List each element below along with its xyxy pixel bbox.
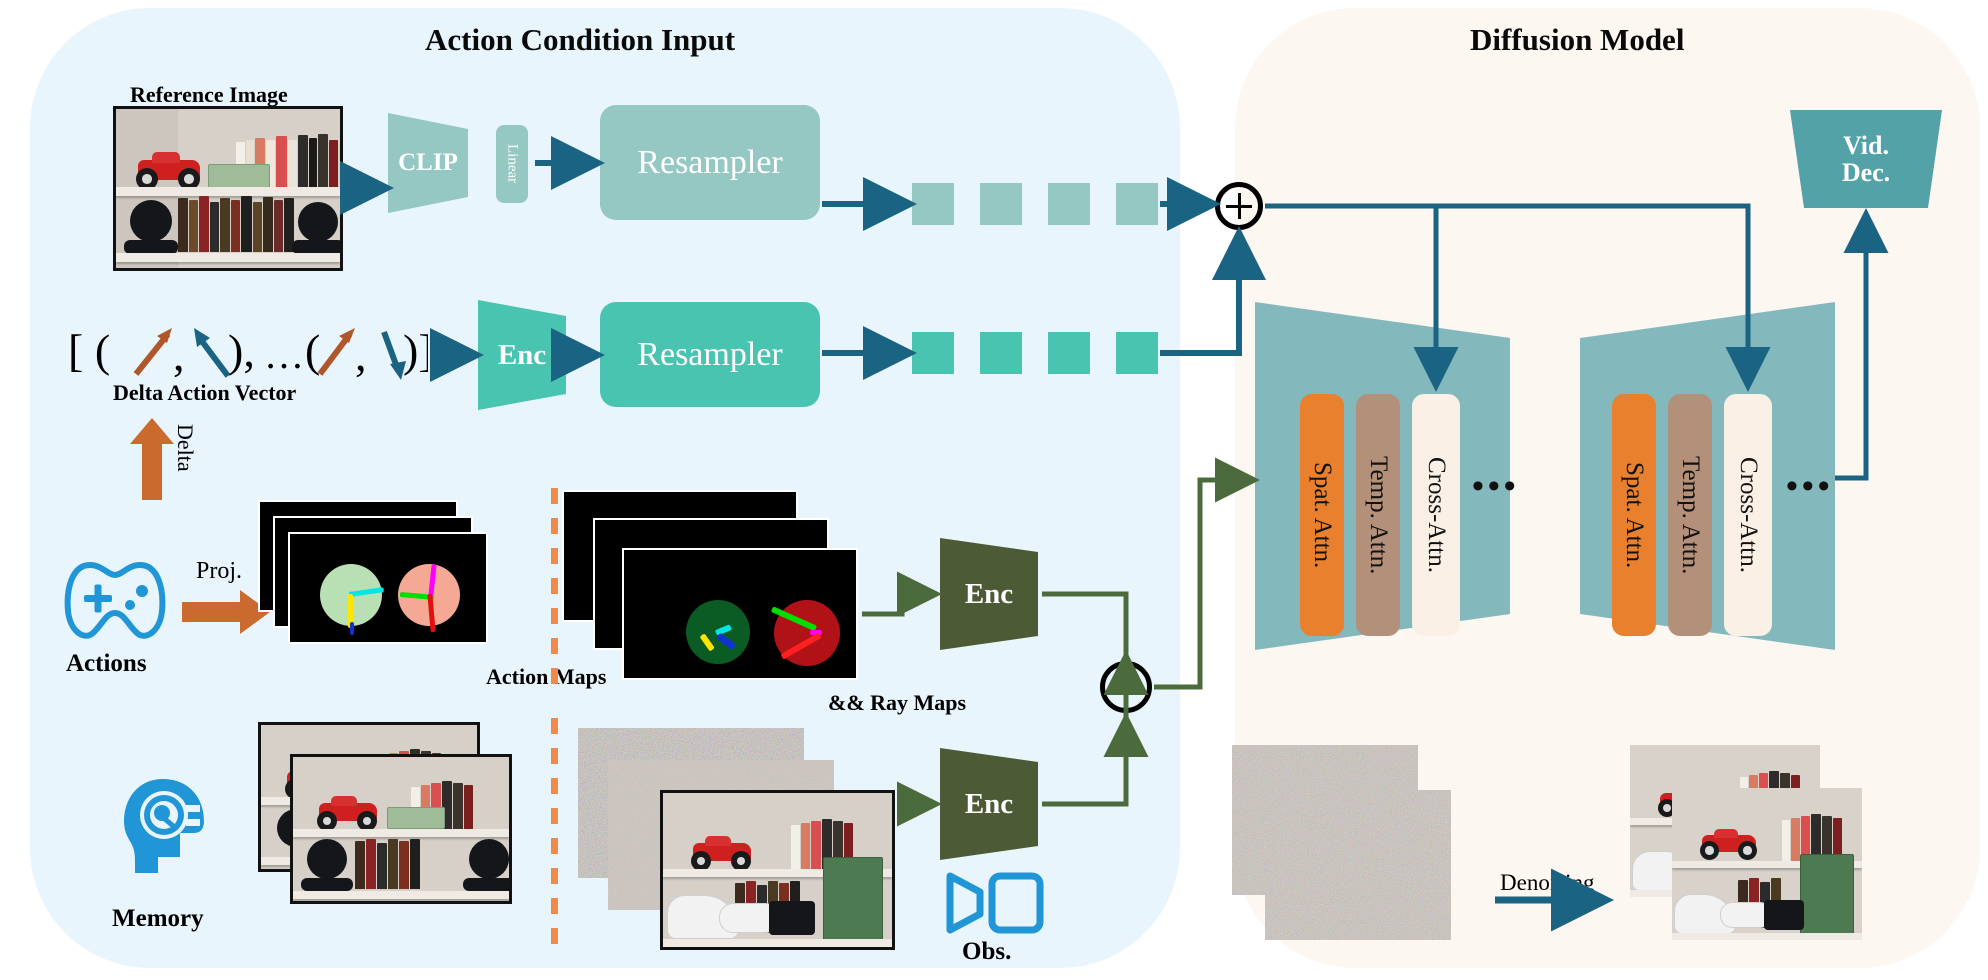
diagram-canvas: Action Condition Input Diffusion Model R… bbox=[0, 0, 1988, 980]
proj-label: Proj. bbox=[196, 558, 242, 585]
proj-arrow bbox=[182, 590, 270, 639]
denoise-input-noisy-front bbox=[1265, 790, 1451, 940]
enc-raymap-block: Enc bbox=[940, 538, 1038, 650]
unet-down-temporal-attn: Temp. Attn. bbox=[1356, 394, 1400, 636]
denoise-output-front bbox=[1672, 788, 1862, 940]
unet-down-temporal-attn-label: Temp. Attn. bbox=[1364, 456, 1392, 574]
unet-up-spatial-attn-label: Spat. Attn. bbox=[1620, 462, 1648, 568]
svg-text:…: … bbox=[264, 332, 304, 377]
reference-image-label: Reference Image bbox=[130, 82, 288, 108]
unet-down-spatial-attn: Spat. Attn. bbox=[1300, 394, 1344, 636]
reference-image-photo bbox=[113, 106, 343, 271]
svg-text:),: ), bbox=[228, 325, 255, 376]
enc-obs-block: Enc bbox=[940, 748, 1038, 860]
unet-down-cross-attn-label: Cross-Attn. bbox=[1422, 457, 1450, 573]
enc-action-block: Enc bbox=[478, 300, 566, 410]
delta-arrow bbox=[130, 418, 174, 505]
delta-action-vector-label: Delta Action Vector bbox=[113, 380, 296, 406]
unet-down-cross-attn: Cross-Attn. bbox=[1412, 394, 1460, 636]
obs-photo-front bbox=[660, 790, 895, 950]
linear-block: Linear bbox=[496, 125, 528, 203]
add-operator-bottom bbox=[1100, 661, 1152, 713]
obs-label: Obs. bbox=[962, 938, 1011, 966]
svg-text:)]: )] bbox=[403, 325, 428, 376]
ray-maps-label: && Ray Maps bbox=[828, 690, 966, 716]
dashed-separator-top bbox=[551, 488, 558, 688]
token-square-top-2 bbox=[980, 183, 1022, 225]
actions-label: Actions bbox=[66, 650, 147, 678]
video-decoder-label-line2: Dec. bbox=[1842, 159, 1890, 186]
camera-icon bbox=[942, 870, 1046, 941]
token-square-top-4 bbox=[1116, 183, 1158, 225]
svg-text:,: , bbox=[355, 329, 367, 380]
denoising-label: Denoising bbox=[1500, 870, 1595, 896]
ray-map-frame-front bbox=[622, 548, 858, 680]
panel-title-action-condition-input: Action Condition Input bbox=[425, 22, 735, 58]
unet-down-ellipsis: ••• bbox=[1472, 468, 1520, 506]
gamepad-icon bbox=[60, 555, 170, 650]
action-map-stick-blue bbox=[350, 622, 354, 635]
resampler-mid-block: Resampler bbox=[600, 302, 820, 407]
unet-up-temporal-attn: Temp. Attn. bbox=[1668, 394, 1712, 636]
resampler-mid-label: Resampler bbox=[637, 336, 782, 374]
token-square-mid-3 bbox=[1048, 332, 1090, 374]
clip-block-label: CLIP bbox=[398, 149, 458, 177]
delta-label: Delta bbox=[172, 424, 198, 472]
unet-up-ellipsis: ••• bbox=[1786, 468, 1834, 506]
svg-text:(: ( bbox=[305, 325, 320, 376]
video-decoder-block: Vid. Dec. bbox=[1790, 110, 1942, 208]
token-square-mid-4 bbox=[1116, 332, 1158, 374]
enc-obs-label: Enc bbox=[965, 788, 1013, 821]
linear-block-label: Linear bbox=[504, 144, 521, 183]
unet-up-temporal-attn-label: Temp. Attn. bbox=[1676, 456, 1704, 574]
resampler-top-label: Resampler bbox=[637, 144, 782, 182]
token-square-mid-1 bbox=[912, 332, 954, 374]
clip-block: CLIP bbox=[388, 113, 468, 213]
svg-text:[ (: [ ( bbox=[68, 325, 110, 376]
add-operator-top bbox=[1215, 182, 1263, 230]
memory-label: Memory bbox=[112, 905, 204, 933]
unet-up-spatial-attn: Spat. Attn. bbox=[1612, 394, 1656, 636]
dashed-separator-bottom bbox=[551, 718, 558, 948]
token-square-top-1 bbox=[912, 183, 954, 225]
enc-raymap-label: Enc bbox=[965, 578, 1013, 611]
delta-action-vector-expression: [ ( , ), … ( , )] bbox=[68, 318, 428, 384]
unet-down-spatial-attn-label: Spat. Attn. bbox=[1308, 462, 1336, 568]
video-decoder-label-line1: Vid. bbox=[1843, 132, 1889, 159]
token-square-top-3 bbox=[1048, 183, 1090, 225]
unet-up-cross-attn: Cross-Attn. bbox=[1724, 394, 1772, 636]
action-map-frame-front bbox=[288, 532, 488, 644]
token-square-mid-2 bbox=[980, 332, 1022, 374]
memory-photo-front bbox=[290, 754, 512, 904]
action-maps-label: Action Maps bbox=[486, 664, 606, 690]
unet-up-cross-attn-label: Cross-Attn. bbox=[1734, 457, 1762, 573]
svg-text:,: , bbox=[173, 329, 185, 380]
memory-icon bbox=[118, 775, 208, 880]
resampler-top-block: Resampler bbox=[600, 105, 820, 220]
enc-action-label: Enc bbox=[498, 339, 546, 372]
panel-title-diffusion-model: Diffusion Model bbox=[1470, 22, 1684, 58]
